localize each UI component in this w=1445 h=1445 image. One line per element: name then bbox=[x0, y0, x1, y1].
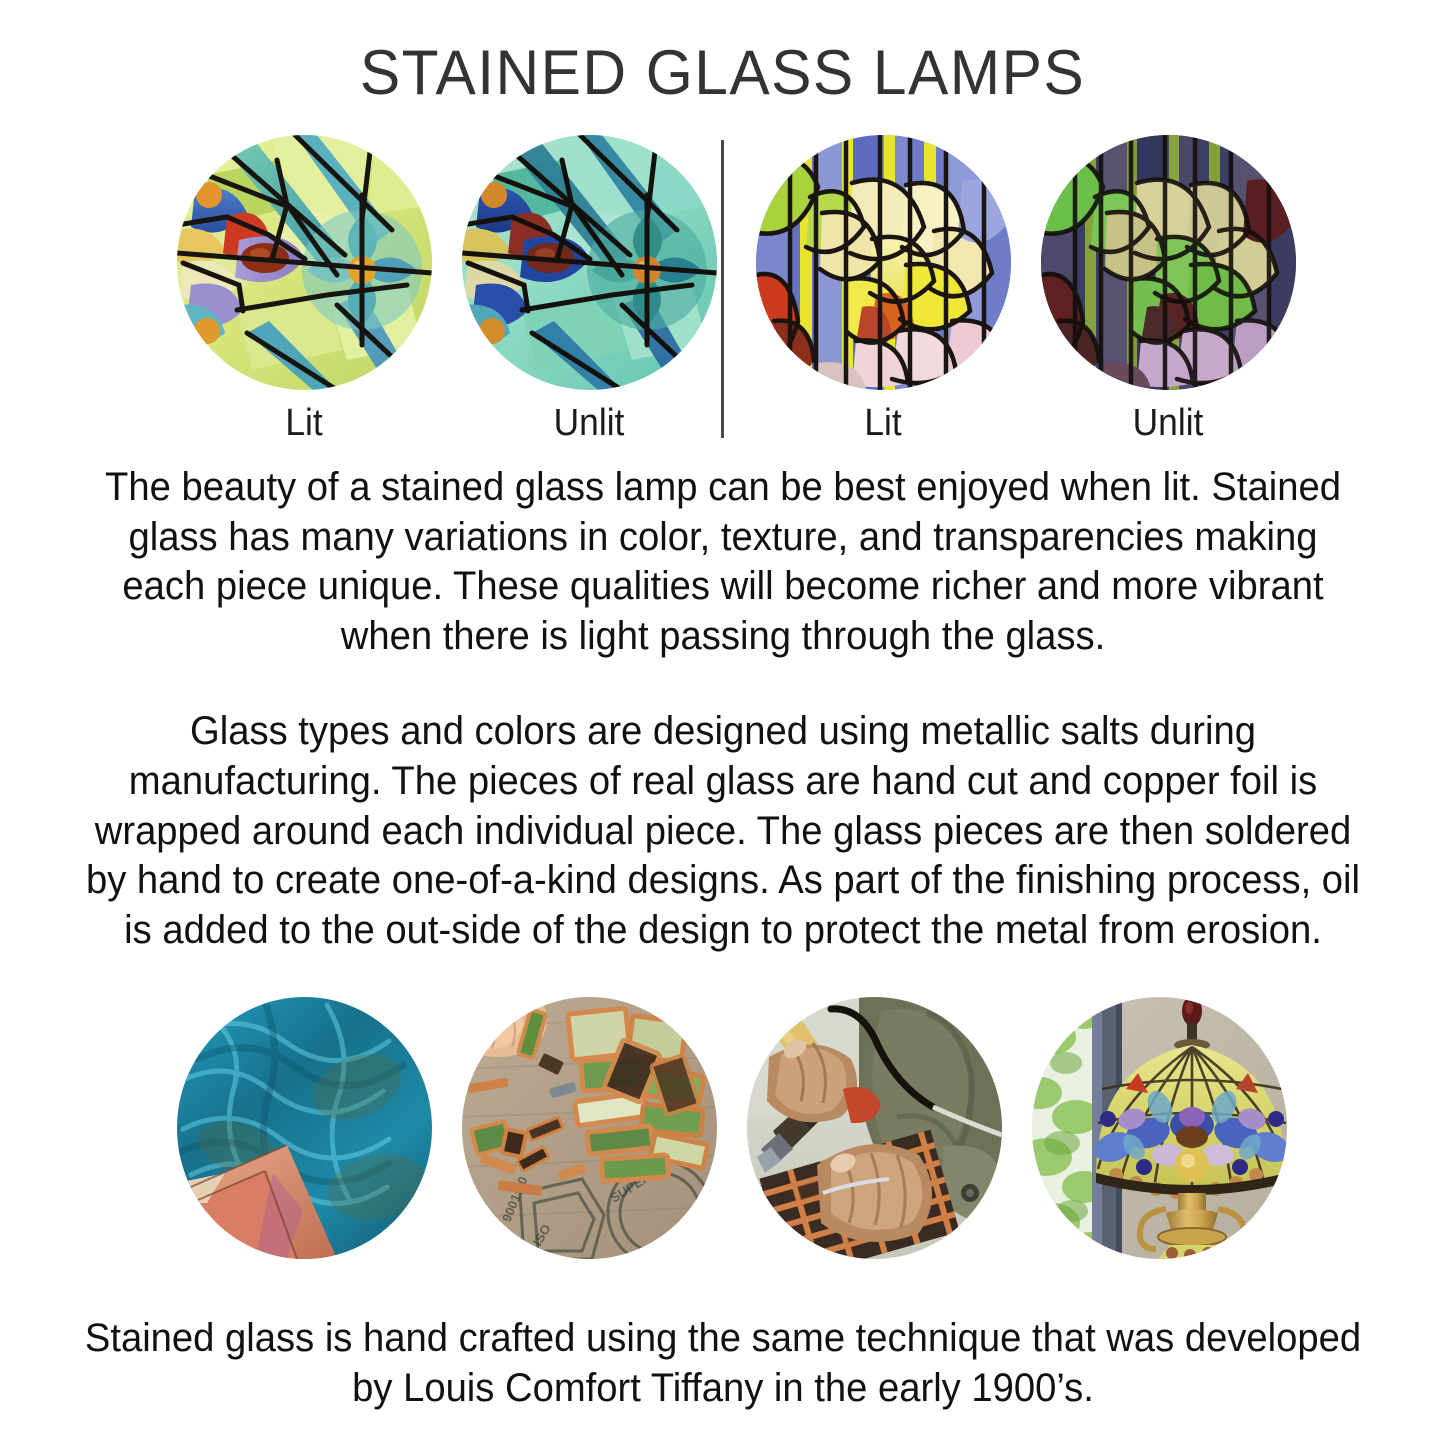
stained-glass-lit-floral-image bbox=[756, 135, 1011, 390]
comparison-divider bbox=[721, 140, 724, 438]
comparison-label-lit: Lit bbox=[286, 404, 323, 442]
process-cell-copper-foil: SUPER QU 9001:20 ISO bbox=[458, 997, 721, 1259]
copper-foil-wrapped-pieces-image: SUPER QU 9001:20 ISO bbox=[462, 997, 717, 1259]
process-paragraph: Glass types and colors are designed usin… bbox=[83, 707, 1363, 955]
finished-tiffany-lamp-image bbox=[1032, 997, 1287, 1259]
comparison-section: Lit bbox=[0, 135, 1445, 445]
comparison-cell-unlit-geometric: Unlit bbox=[458, 135, 721, 442]
comparison-label-lit: Lit bbox=[865, 404, 902, 442]
process-image-row: SUPER QU 9001:20 ISO bbox=[173, 997, 1291, 1259]
hand-soldering-glass-image bbox=[747, 997, 1002, 1259]
comparison-cell-lit-geometric: Lit bbox=[173, 135, 436, 442]
comparison-pair-left: Lit bbox=[173, 135, 721, 442]
process-cell-finished-lamp bbox=[1028, 997, 1291, 1259]
intro-paragraph: The beauty of a stained glass lamp can b… bbox=[83, 463, 1363, 661]
process-image-section: SUPER QU 9001:20 ISO bbox=[0, 997, 1445, 1272]
comparison-pair-right: Lit bbox=[752, 135, 1300, 442]
comparison-cell-lit-floral: Lit bbox=[752, 135, 1015, 442]
process-cell-soldering bbox=[743, 997, 1006, 1259]
stained-glass-lit-geometric-image bbox=[177, 135, 432, 390]
footer-paragraph: Stained glass is hand crafted using the … bbox=[83, 1314, 1363, 1413]
comparison-cell-unlit-floral: Unlit bbox=[1037, 135, 1300, 442]
comparison-label-unlit: Unlit bbox=[1133, 404, 1204, 442]
process-cell-glass-sheet bbox=[173, 997, 436, 1259]
blue-marbled-glass-sheet-image bbox=[177, 997, 432, 1259]
page-title: STAINED GLASS LAMPS bbox=[29, 0, 1416, 105]
comparison-label-unlit: Unlit bbox=[554, 404, 625, 442]
stained-glass-unlit-geometric-image bbox=[462, 135, 717, 390]
stained-glass-unlit-floral-image bbox=[1041, 135, 1296, 390]
